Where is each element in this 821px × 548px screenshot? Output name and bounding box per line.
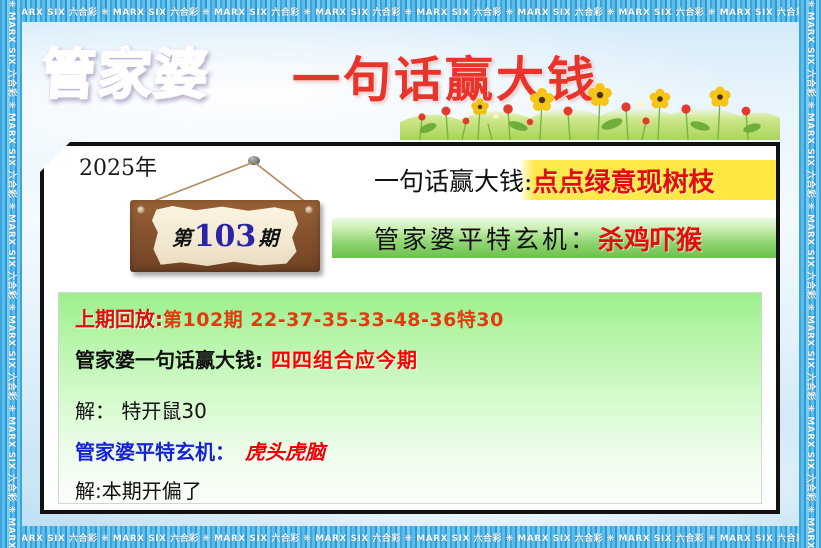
replay-label: 上期回放: (75, 303, 163, 332)
secret-label: 管家婆平特玄机： (75, 436, 235, 465)
replay-value: 第102期 22-37-35-33-48-36特30 (163, 305, 504, 332)
border-top: ❋ MARX SIX 六合彩 ❋ MARX SIX 六合彩 ❋ MARX SIX… (0, 0, 821, 22)
row-hint: 管家婆一句话赢大钱: 四四组合应今期 (75, 344, 745, 373)
row-explain-1: 解： 特开鼠30 (75, 395, 745, 424)
content-box: 上期回放: 第102期 22-37-35-33-48-36特30 管家婆一句话赢… (58, 292, 762, 504)
main-panel: 2025年 第103期 一句话赢大钱: (40, 142, 780, 514)
explain-2-text: 解:本期开偏了 (75, 475, 202, 504)
secret-value: 虎头虎脑 (245, 436, 325, 465)
issue-suffix: 期 (258, 226, 278, 250)
border-left-text: ❋ MARX SIX 六合彩 ❋ MARX SIX 六合彩 ❋ MARX SIX… (0, 0, 22, 548)
banner-green-value: 杀鸡吓猴 (598, 220, 702, 257)
issue-digits: 103 (194, 219, 257, 254)
issue-prefix: 第 (172, 226, 192, 250)
banner-yellow-label: 一句话赢大钱: (374, 162, 532, 198)
row-explain-2: 解:本期开偏了 (75, 475, 745, 504)
border-bottom-text: ❋ MARX SIX 六合彩 ❋ MARX SIX 六合彩 ❋ MARX SIX… (0, 531, 821, 544)
banner-green: 管家婆平特玄机： 杀鸡吓猴 (332, 218, 776, 258)
border-top-text: ❋ MARX SIX 六合彩 ❋ MARX SIX 六合彩 ❋ MARX SIX… (0, 5, 821, 18)
border-bottom: ❋ MARX SIX 六合彩 ❋ MARX SIX 六合彩 ❋ MARX SIX… (0, 526, 821, 548)
border-right-text: ❋ MARX SIX 六合彩 ❋ MARX SIX 六合彩 ❋ MARX SIX… (799, 0, 821, 548)
paper-note: 第103期 (152, 206, 298, 266)
row-secret: 管家婆平特玄机： 虎头虎脑 (75, 436, 745, 465)
explain-1-text: 解： 特开鼠30 (75, 395, 207, 424)
issue-number: 第103期 (172, 219, 279, 254)
wooden-board: 第103期 (130, 200, 320, 272)
row-replay: 上期回放: 第102期 22-37-35-33-48-36特30 (75, 303, 745, 332)
brand-title: 管家婆 (39, 30, 213, 109)
hint-value: 四四组合应今期 (271, 344, 418, 373)
banner-green-label: 管家婆平特玄机： (374, 220, 598, 256)
banner-yellow-value: 点点绿意现树枝 (532, 162, 714, 199)
hanging-sign: 第103期 (104, 156, 344, 276)
border-right: ❋ MARX SIX 六合彩 ❋ MARX SIX 六合彩 ❋ MARX SIX… (799, 0, 821, 548)
banner-yellow: 一句话赢大钱: 点点绿意现树枝 (334, 160, 776, 200)
hint-label: 管家婆一句话赢大钱: (75, 344, 263, 373)
poster-canvas: ❋ MARX SIX 六合彩 ❋ MARX SIX 六合彩 ❋ MARX SIX… (0, 0, 821, 548)
border-left: ❋ MARX SIX 六合彩 ❋ MARX SIX 六合彩 ❋ MARX SIX… (0, 0, 22, 548)
flower-meadow-decoration (400, 78, 780, 140)
